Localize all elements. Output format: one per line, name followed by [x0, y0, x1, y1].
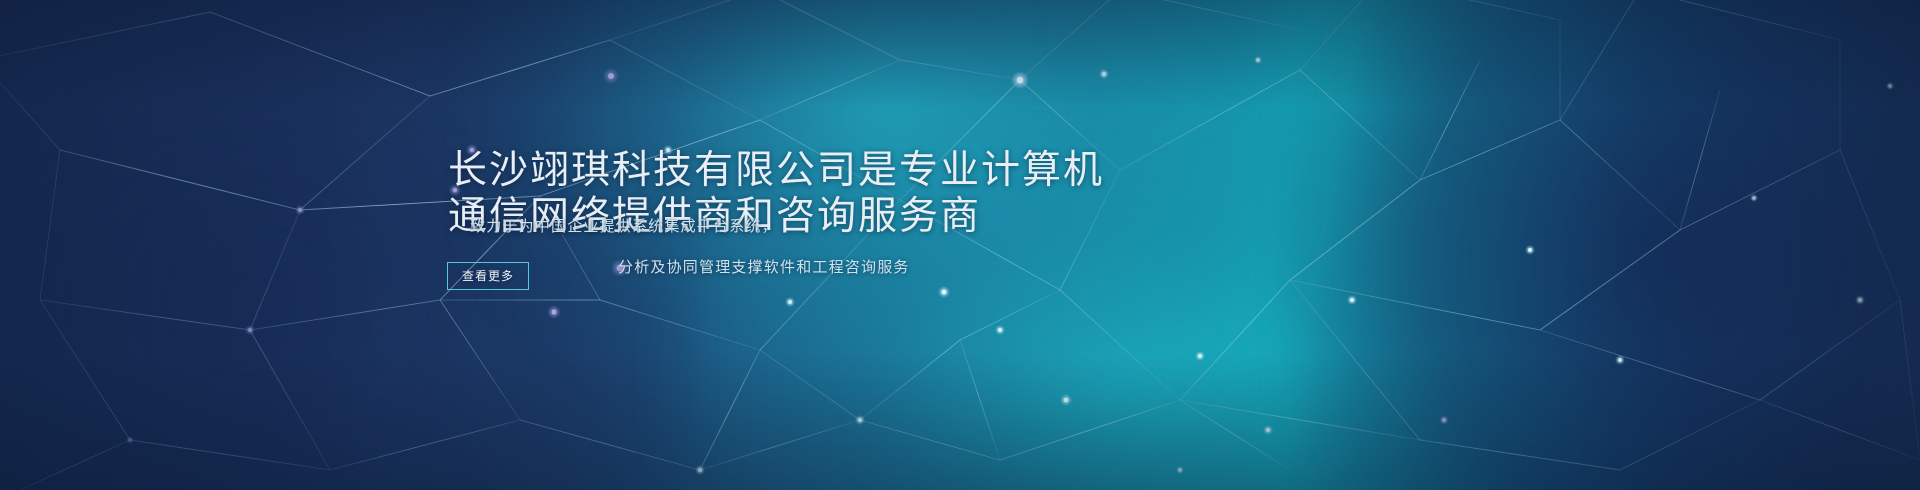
hero-content: 长沙翊琪科技有限公司是专业计算机 通信网络提供商和咨询服务商 致力于为中国企业提…: [0, 0, 1920, 490]
hero-banner: 长沙翊琪科技有限公司是专业计算机 通信网络提供商和咨询服务商 致力于为中国企业提…: [0, 0, 1920, 490]
view-more-button[interactable]: 查看更多: [447, 262, 529, 290]
hero-subtitle-line-1: 致力于为中国企业提供系统集成平台系统，: [470, 215, 778, 236]
hero-subtitle-line-2: 分析及协同管理支撑软件和工程咨询服务: [618, 256, 910, 277]
headline-line-1: 长沙翊琪科技有限公司是专业计算机: [448, 148, 1104, 194]
